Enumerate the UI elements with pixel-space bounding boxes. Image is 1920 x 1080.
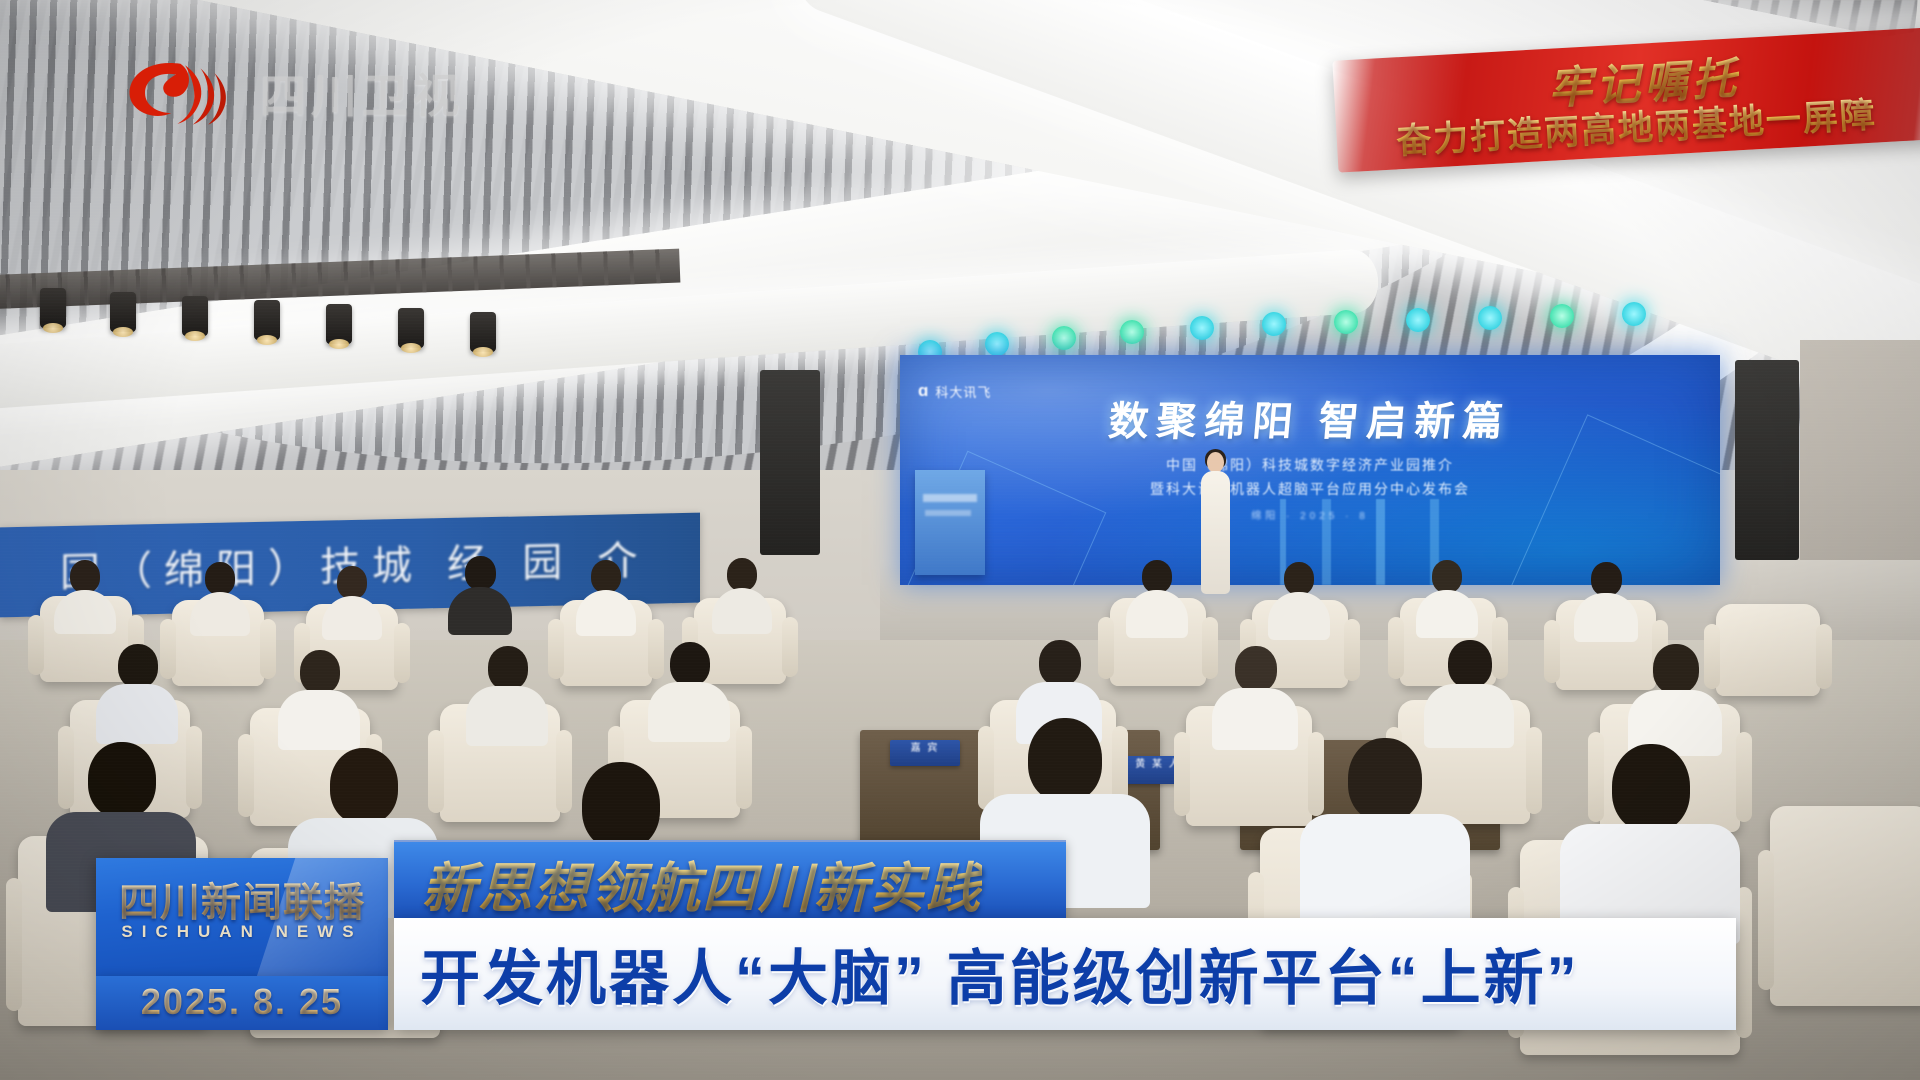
wash-light [985,332,1009,356]
program-name-en: SICHUAN NEWS [96,922,388,942]
led-screen-title: 数聚绵阳 智启新篇 [900,389,1720,447]
audience-member [1126,560,1188,634]
program-name-cn: 四川新闻联播 [96,870,388,928]
audience-member [278,650,360,742]
lower-third: 四川新闻联播 SICHUAN NEWS 2025. 8. 25 新思想领航四川新… [0,840,1920,1040]
audience-member [54,560,116,630]
audience-member [1424,640,1514,740]
wash-light [1478,306,1502,330]
wash-light [1334,310,1358,334]
audience-member [1628,644,1722,748]
speaker-tower-left [760,370,820,555]
audience-member [1416,560,1478,634]
wash-light [1190,316,1214,340]
wash-light [1120,320,1144,344]
audience-member [322,566,382,636]
stage-light [470,312,496,352]
audience-member [648,642,730,734]
audience-member [466,646,548,738]
host-head [1207,452,1224,473]
host-presenter [1195,452,1235,594]
broadcast-frame: 国（绵阳）技城 经 园 介 ɑ 科大讯飞 数聚绵阳 智启新篇 中国（绵阳）科技城… [0,0,1920,1080]
wash-light [1262,312,1286,336]
led-screen-date-line: 绵阳 · 2025 · 8 [900,507,1720,522]
stage-light [326,304,352,344]
broadcast-date: 2025. 8. 25 [96,981,388,1023]
stage-light [254,300,280,340]
audience-member [190,562,250,632]
name-plate-text: 嘉 宾 [890,740,960,758]
wash-light [1622,302,1646,326]
stage-light [110,292,136,332]
stage-light [182,296,208,336]
stage-light [398,308,424,348]
podium [915,470,985,575]
speaker-tower-right [1735,360,1799,560]
program-badge: 四川新闻联播 SICHUAN NEWS [96,858,388,976]
audience-member [712,558,772,630]
sctv-spiral-logo-icon [120,56,244,130]
stage-light [40,288,66,328]
audience-member [576,560,636,632]
audience-member [448,556,512,632]
led-stage-screen: ɑ 科大讯飞 数聚绵阳 智启新篇 中国（绵阳）科技城数字经济产业园推介 暨科大讯… [900,355,1720,585]
wash-light [1406,308,1430,332]
host-dress [1201,471,1230,594]
audience-member [1212,646,1298,742]
wash-light [1550,304,1574,328]
channel-name: 四川卫视 [260,60,464,126]
date-bar: 2025. 8. 25 [96,976,388,1030]
audience-member [1268,562,1330,636]
audience-chair [1716,604,1820,696]
wash-light [1052,326,1076,350]
audience-member [96,644,178,736]
headline-bar: 开发机器人“大脑” 高能级创新平台“上新” [394,918,1736,1030]
audience-member [1574,562,1638,638]
channel-bug: 四川卫视 [120,56,464,130]
series-title-bar: 新思想领航四川新实践 [394,840,1066,920]
name-plate: 嘉 宾 [890,740,960,766]
led-screen-subtitle-1: 中国（绵阳）科技城数字经济产业园推介 [900,455,1720,475]
headline-text: 开发机器人“大脑” 高能级创新平台“上新” [420,930,1580,1017]
led-screen-subtitle-2: 暨科大讯飞机器人超脑平台应用分中心发布会 [900,479,1720,499]
series-title: 新思想领航四川新实践 [422,844,982,923]
